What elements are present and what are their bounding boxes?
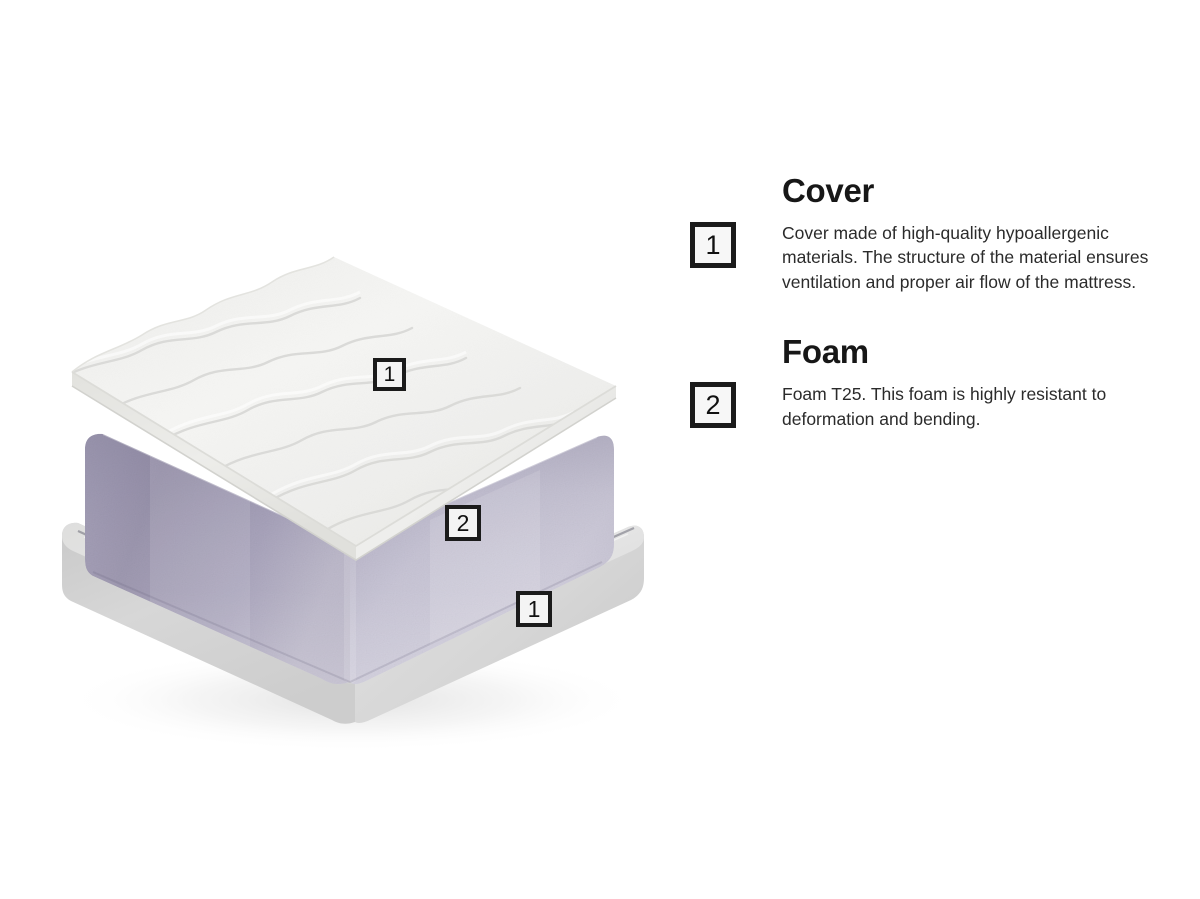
mattress-illustration: 1 2 1 bbox=[0, 0, 680, 899]
legend-body-cover: Cover Cover made of high-quality hypoall… bbox=[782, 174, 1160, 295]
legend-title-foam: Foam bbox=[782, 335, 1160, 370]
legend-body-foam: Foam Foam T25. This foam is highly resis… bbox=[782, 335, 1160, 431]
legend-title-cover: Cover bbox=[782, 174, 1160, 209]
legend-item-cover: 1 Cover Cover made of high-quality hypoa… bbox=[690, 174, 1160, 295]
legend-description-foam: Foam T25. This foam is highly resistant … bbox=[782, 382, 1152, 432]
legend-panel: 1 Cover Cover made of high-quality hypoa… bbox=[690, 174, 1160, 432]
legend-description-cover: Cover made of high-quality hypoallergeni… bbox=[782, 221, 1152, 296]
legend-badge-2: 2 bbox=[690, 382, 736, 428]
mattress-svg bbox=[0, 0, 680, 899]
callout-marker-foam[interactable]: 2 bbox=[445, 505, 481, 541]
legend-item-foam: 2 Foam Foam T25. This foam is highly res… bbox=[690, 335, 1160, 431]
callout-marker-cover-base[interactable]: 1 bbox=[516, 591, 552, 627]
legend-badge-1: 1 bbox=[690, 222, 736, 268]
callout-marker-cover-top[interactable]: 1 bbox=[373, 358, 406, 391]
